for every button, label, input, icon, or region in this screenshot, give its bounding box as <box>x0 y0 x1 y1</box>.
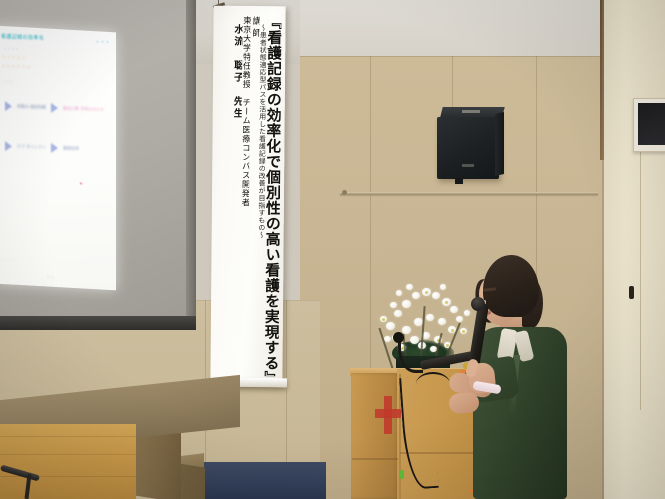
orchid-bloom <box>402 300 411 308</box>
slide-flow-row: ケア ダイレクト 業務効率 <box>5 141 109 155</box>
door-edge <box>602 0 604 499</box>
orchid-bloom-center <box>451 329 454 332</box>
stage-front-face <box>0 424 136 499</box>
lectern-moulding <box>352 458 398 460</box>
loudspeaker-bracket <box>455 178 463 184</box>
wall-mounted-loudspeaker <box>437 117 499 179</box>
orchid-bloom-center <box>445 301 448 304</box>
slide-flow-row: 状態の 個別判断 ねらいを マネジメント <box>5 101 109 115</box>
arrow-right-icon <box>5 141 12 151</box>
projection-screen: 看護記録の効率化 ・・・ ・・・・ ・・・・・ ・・・・・・ ・・・ 状態の 個… <box>0 0 196 330</box>
banner-main-title: 『看護記録の効率化で個別性の高い看護を実現する』 <box>263 14 281 376</box>
orchid-stem <box>378 328 393 370</box>
slide-page-number: ・・ <box>46 274 54 280</box>
orchid-bloom <box>438 318 446 325</box>
projected-slide: 看護記録の効率化 ・・・ ・・・・ ・・・・・ ・・・・・・ ・・・ 状態の 個… <box>0 26 116 291</box>
arrow-right-icon <box>51 143 58 153</box>
lecture-hall-photo: 看護記録の効率化 ・・・ ・・・・ ・・・・・ ・・・・・・ ・・・ 状態の 個… <box>0 0 665 499</box>
eye <box>484 294 493 298</box>
slide-title: 看護記録の効率化 <box>1 33 109 44</box>
slide-flow-box: 業務効率 <box>63 145 79 152</box>
slide-flow-box: ねらいを マネジメント <box>63 105 104 113</box>
slide-flow-box: 状態の 個別判断 <box>17 104 46 111</box>
slide-title-right: ・・・ <box>95 39 110 47</box>
slide-orange-text: ・・・・・・ <box>1 63 109 74</box>
arrow-right-icon <box>5 101 12 111</box>
presenter <box>455 255 580 499</box>
loudspeaker-label <box>462 110 480 113</box>
orchid-bloom <box>390 302 397 308</box>
orchid-bloom <box>440 284 446 290</box>
orchid-bloom <box>412 292 420 299</box>
loudspeaker-badge <box>462 164 474 167</box>
wood-grain <box>0 436 136 437</box>
wood-grain <box>0 454 136 455</box>
lectern-left-face <box>351 373 399 499</box>
screen-frame-edge <box>186 0 196 330</box>
orchid-bloom <box>386 322 395 330</box>
green-cable-tip <box>400 470 404 479</box>
slide-footer: ・・・・・ <box>0 258 15 263</box>
orchid-bloom <box>426 314 434 321</box>
slide-marker-dot <box>80 182 82 184</box>
slide-flow-box: ケア ダイレクト <box>17 144 46 151</box>
hair <box>483 255 539 317</box>
navy-blue-carpet <box>196 462 326 499</box>
display-screen <box>638 103 665 145</box>
slide-green-text: ・・・ <box>1 79 109 89</box>
picture-rail <box>340 192 598 195</box>
orchid-bloom-center <box>425 291 428 294</box>
red-cross-emblem <box>375 409 401 418</box>
screen-bottom-bar <box>0 316 196 330</box>
orchid-bloom <box>402 326 411 334</box>
picture-rail-bracket <box>342 190 347 195</box>
vertical-japanese-banner: 『看護記録の効率化で個別性の高い看護を実現する』 〜患者状態適応型パスを活用した… <box>210 6 285 387</box>
orchid-bloom <box>394 310 402 317</box>
door-seam <box>640 150 641 410</box>
loudspeaker-side <box>495 112 504 176</box>
orchid-bloom <box>406 284 413 290</box>
arrow-right-icon <box>51 103 58 113</box>
orchid-bloom <box>432 292 440 299</box>
hand-holding-mic <box>448 392 479 414</box>
orchid-bloom <box>396 290 402 296</box>
door-handle[interactable] <box>629 286 634 299</box>
wall-mounted-display <box>633 98 665 152</box>
side-door-panel[interactable] <box>604 0 665 499</box>
orchid-bloom-center <box>382 318 385 321</box>
podium-mic-head <box>393 332 404 343</box>
orchid-bloom <box>384 336 391 342</box>
